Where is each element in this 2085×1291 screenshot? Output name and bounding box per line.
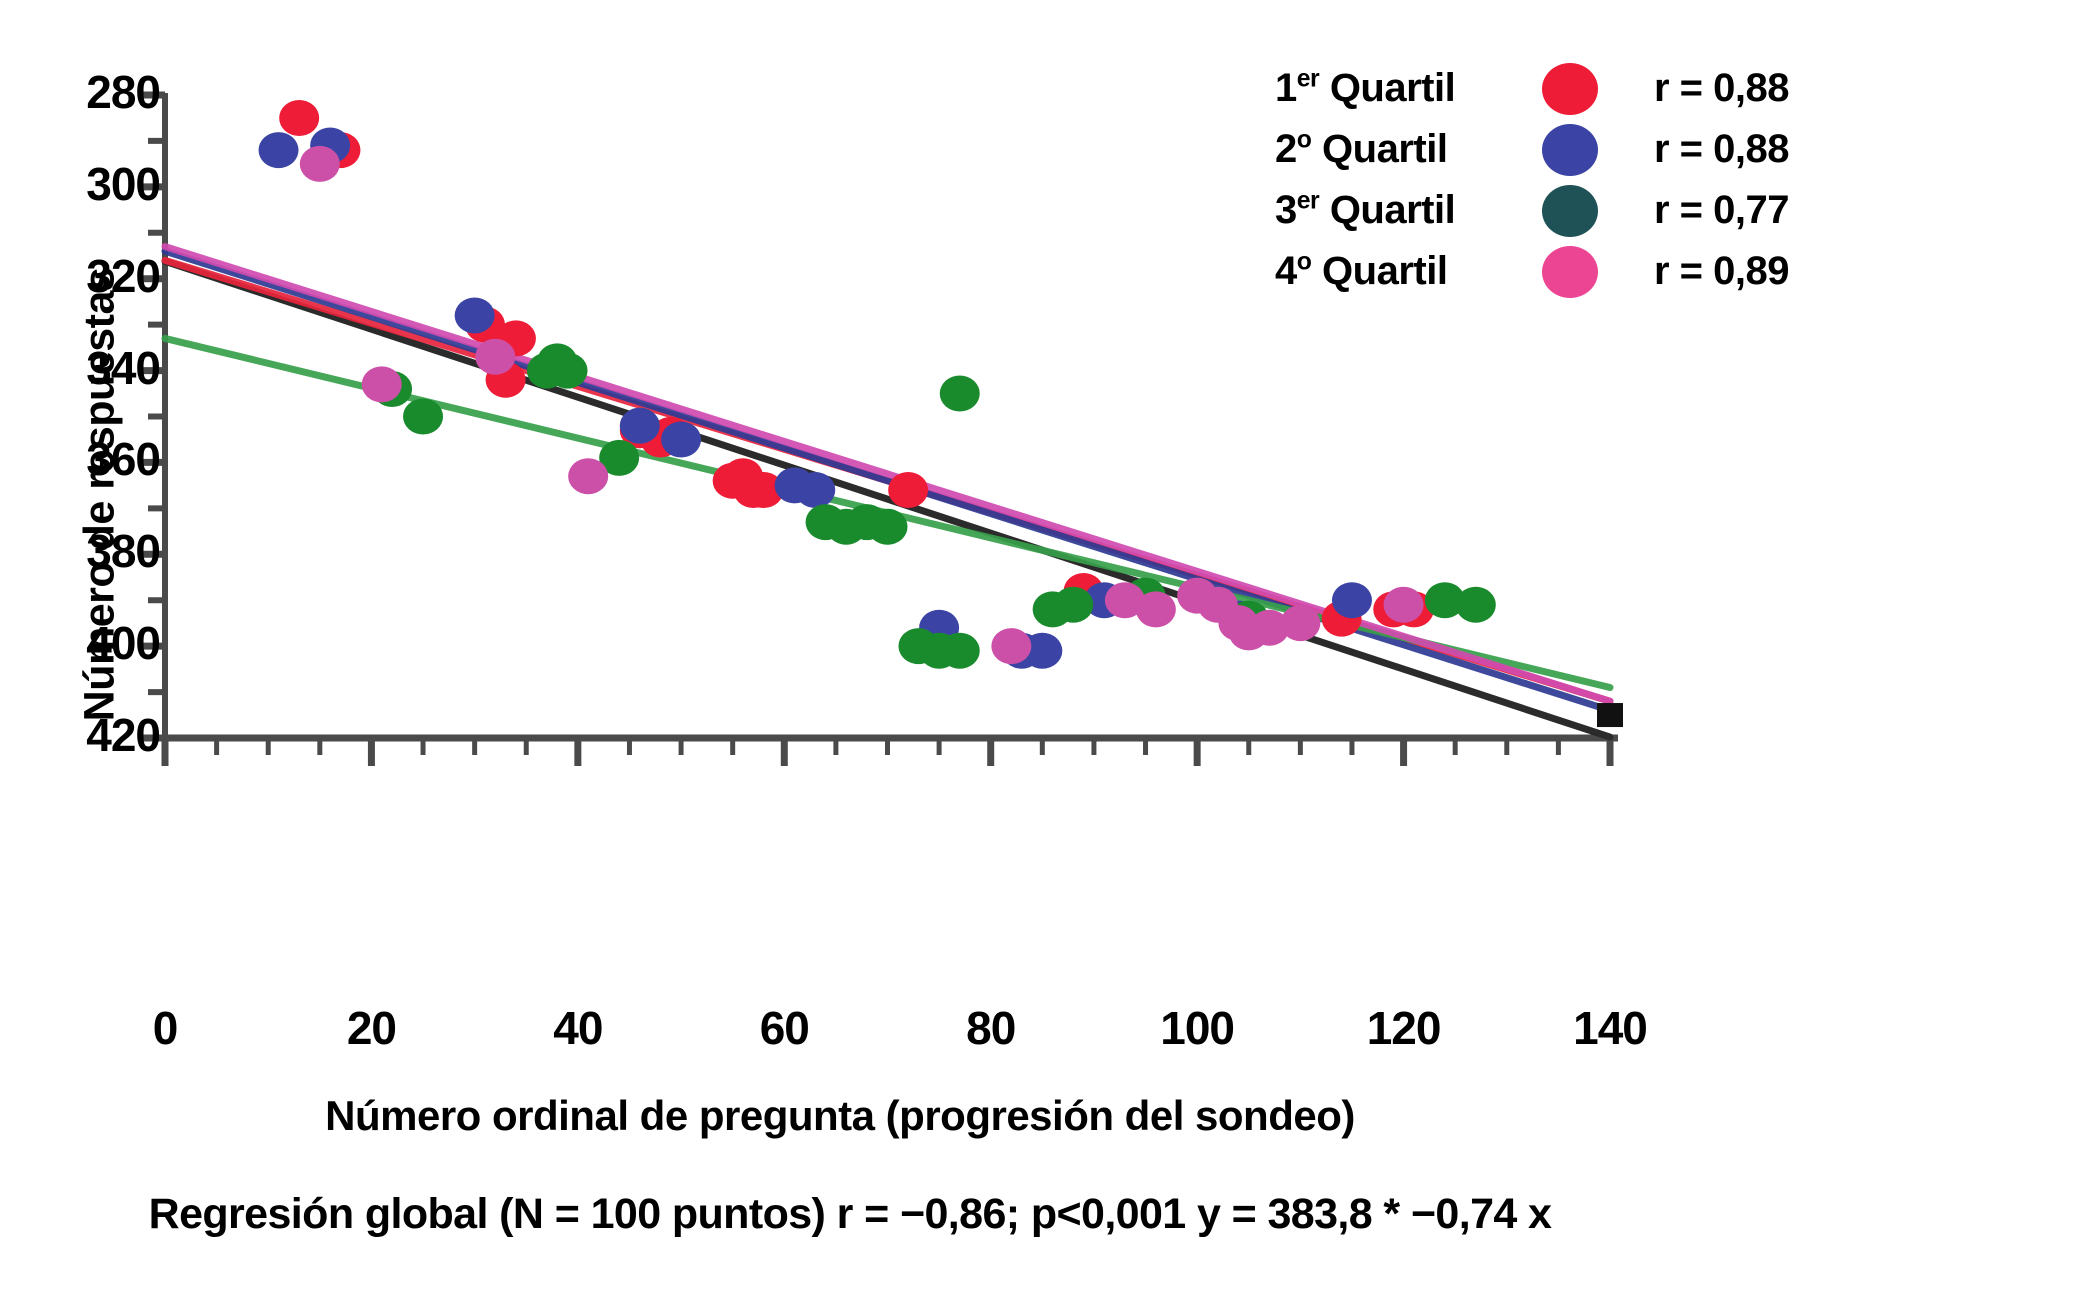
legend-correlation-value: r = 0,88 bbox=[1654, 127, 1789, 172]
x-tick-label: 40 bbox=[553, 1005, 602, 1051]
legend-label-word: Quartil bbox=[1311, 127, 1447, 171]
legend-label-quartile: 1er Quartil bbox=[1275, 66, 1520, 111]
y-tick-label: 400 bbox=[20, 620, 160, 666]
data-point-series-3 bbox=[940, 633, 980, 669]
data-point-series-4 bbox=[991, 628, 1031, 664]
legend-color-dot-icon bbox=[1542, 63, 1598, 115]
chart-figure: Número de respuestas 4204003803603403203… bbox=[0, 0, 2085, 1291]
legend-correlation-value: r = 0,88 bbox=[1654, 66, 1789, 111]
data-point-series-4 bbox=[362, 366, 402, 402]
legend-label-ordinal-suffix: er bbox=[1297, 188, 1319, 215]
trendline-global bbox=[165, 261, 1610, 737]
x-axis-title: Número ordinal de pregunta (progresión d… bbox=[160, 1092, 1520, 1140]
x-tick-label: 0 bbox=[153, 1005, 178, 1051]
data-point-series-3 bbox=[940, 376, 980, 412]
legend-label-word: Quartil bbox=[1319, 188, 1455, 232]
legend-label-word: Quartil bbox=[1319, 66, 1455, 110]
legend-label-number: 1 bbox=[1275, 66, 1297, 110]
data-point-series-2 bbox=[620, 408, 660, 444]
legend-label-quartile: 3er Quartil bbox=[1275, 188, 1520, 233]
global-regression-endpoint-marker bbox=[1597, 703, 1623, 727]
data-point-series-2 bbox=[1332, 582, 1372, 618]
y-tick-labels: 420400380360340320300280 bbox=[0, 0, 160, 1291]
y-tick-label: 360 bbox=[20, 436, 160, 482]
y-tick-label: 280 bbox=[20, 69, 160, 115]
data-point-series-3 bbox=[403, 399, 443, 435]
data-point-series-2 bbox=[455, 297, 495, 333]
y-tick-label: 320 bbox=[20, 253, 160, 299]
data-point-series-4 bbox=[1280, 605, 1320, 641]
data-point-series-4 bbox=[1218, 605, 1258, 641]
x-tick-label: 120 bbox=[1367, 1005, 1441, 1051]
data-point-series-4 bbox=[1136, 591, 1176, 627]
y-tick-label: 300 bbox=[20, 161, 160, 207]
x-tick-label: 100 bbox=[1160, 1005, 1234, 1051]
legend-correlation-value: r = 0,77 bbox=[1654, 188, 1789, 233]
legend-label-number: 3 bbox=[1275, 188, 1297, 232]
legend-swatch bbox=[1520, 246, 1620, 298]
data-point-series-3 bbox=[1053, 587, 1093, 623]
x-tick-label: 140 bbox=[1573, 1005, 1647, 1051]
data-point-series-4 bbox=[568, 458, 608, 494]
data-point-series-2 bbox=[259, 132, 299, 168]
legend-row: 2o Quartilr = 0,88 bbox=[1275, 119, 1915, 180]
y-tick-label: 340 bbox=[20, 345, 160, 391]
x-tick-label: 80 bbox=[966, 1005, 1015, 1051]
data-point-series-3 bbox=[1456, 587, 1496, 623]
data-point-series-1 bbox=[279, 100, 319, 136]
data-point-series-3 bbox=[868, 509, 908, 545]
legend-row: 4o Quartilr = 0,89 bbox=[1275, 241, 1915, 302]
data-point-series-3 bbox=[537, 343, 577, 379]
trendline-series-4 bbox=[165, 247, 1610, 702]
legend-row: 1er Quartilr = 0,88 bbox=[1275, 58, 1915, 119]
legend-label-word: Quartil bbox=[1311, 249, 1447, 293]
regression-caption: Regresión global (N = 100 puntos) r = −0… bbox=[0, 1190, 1700, 1239]
legend-row: 3er Quartilr = 0,77 bbox=[1275, 180, 1915, 241]
legend-label-number: 2 bbox=[1275, 127, 1297, 171]
data-point-series-1 bbox=[888, 472, 928, 508]
y-tick-label: 420 bbox=[20, 712, 160, 758]
legend-swatch bbox=[1520, 124, 1620, 176]
legend: 1er Quartilr = 0,882o Quartilr = 0,883er… bbox=[1275, 58, 1915, 302]
legend-color-dot-icon bbox=[1542, 124, 1598, 176]
legend-color-dot-icon bbox=[1542, 185, 1598, 237]
y-tick-label: 380 bbox=[20, 528, 160, 574]
legend-correlation-value: r = 0,89 bbox=[1654, 249, 1789, 294]
legend-label-ordinal-suffix: o bbox=[1297, 127, 1312, 154]
legend-label-ordinal-suffix: o bbox=[1297, 249, 1312, 276]
trendline-series-2 bbox=[165, 251, 1610, 710]
legend-swatch bbox=[1520, 63, 1620, 115]
legend-color-dot-icon bbox=[1542, 246, 1598, 298]
legend-label-number: 4 bbox=[1275, 249, 1297, 293]
legend-swatch bbox=[1520, 185, 1620, 237]
legend-label-quartile: 4o Quartil bbox=[1275, 249, 1520, 294]
data-point-series-2 bbox=[661, 421, 701, 457]
data-point-series-2 bbox=[795, 472, 835, 508]
data-point-series-4 bbox=[1384, 587, 1424, 623]
x-tick-label: 20 bbox=[347, 1005, 396, 1051]
legend-label-quartile: 2o Quartil bbox=[1275, 127, 1520, 172]
data-point-series-4 bbox=[300, 146, 340, 182]
x-tick-label: 60 bbox=[760, 1005, 809, 1051]
data-point-series-1 bbox=[723, 458, 763, 494]
data-point-series-4 bbox=[475, 339, 515, 375]
legend-label-ordinal-suffix: er bbox=[1297, 66, 1319, 93]
